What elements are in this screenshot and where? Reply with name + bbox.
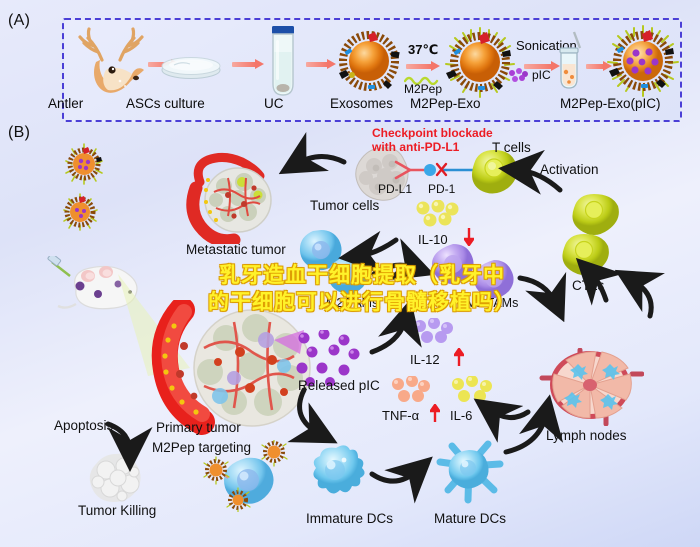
panel-a-letter: (A) [8, 12, 30, 30]
label-mature-dcs: Mature DCs [434, 511, 506, 526]
il-10-cytokine-dots [414, 200, 462, 230]
metastatic-tumor-illustration [182, 152, 282, 244]
step-label-uc: UC [264, 96, 284, 111]
lymph-node-illustration [536, 348, 644, 426]
label-tumor-killing: Tumor Killing [78, 503, 156, 518]
sonication-tube-icon [552, 30, 586, 96]
t-cell-icon-1 [464, 148, 520, 196]
label-t-cells: T cells [492, 140, 531, 155]
label-tumor-cells: Tumor cells [310, 198, 379, 213]
deer-head-icon [76, 26, 146, 100]
m2pep-wave-icon [404, 72, 444, 82]
apoptotic-cell-icon [88, 452, 146, 504]
process-arrow-4 [406, 62, 440, 71]
label-il-6: IL-6 [450, 408, 472, 423]
m1-tam-icon-1 [430, 242, 476, 286]
m1-tam-icon-2 [472, 258, 516, 300]
pic-dots-icon [508, 68, 530, 82]
immature-dc-icon [304, 442, 368, 500]
label-m1-tams: M1 TAMs [466, 296, 518, 310]
tnf-alpha-cytokine-dots [390, 376, 432, 404]
reaction-label-pic: pIC [532, 68, 551, 82]
panel-b-letter: (B) [8, 124, 30, 142]
centrifuge-tube-icon [268, 26, 298, 98]
m2-tam-icon-2 [326, 254, 370, 296]
label-lymph-nodes: Lymph nodes [546, 428, 627, 443]
petri-dish-icon [160, 54, 222, 80]
step-label-m2pep-exo-pic: M2Pep-Exo(pIC) [560, 96, 661, 111]
label-tnf-alpha: TNF-α [382, 408, 419, 423]
step-label-antler: Antler [48, 96, 83, 111]
label-ctls: CTLs [572, 278, 604, 293]
label-activation: Activation [540, 162, 599, 177]
m2pep-targeting-illustration [200, 440, 296, 512]
free-exosome-icon-1 [62, 142, 106, 186]
step-label-exosomes: Exosomes [330, 96, 393, 111]
exosome-icon [338, 30, 400, 92]
exosome-loaded-icon [604, 22, 682, 100]
label-primary-tumor: Primary tumor [156, 420, 241, 435]
checkpoint-line-1: Checkpoint blockade [372, 126, 493, 140]
label-pd-l1: PD-L1 [378, 182, 412, 196]
label-immature-dcs: Immature DCs [306, 511, 393, 526]
reaction-label-m2pep: M2Pep [404, 82, 442, 96]
process-arrow-3 [306, 60, 336, 69]
label-apoptosis: Apoptosis [54, 418, 113, 433]
tnf-alpha-up-arrow-icon [430, 404, 440, 422]
label-m2-tams: M2 TAMs [326, 296, 378, 310]
scientific-figure: (A) (B) Antler [0, 0, 700, 547]
exosome-peptide-icon [442, 24, 518, 100]
label-released-pic: Released pIC [298, 378, 380, 393]
process-arrow-2 [232, 60, 264, 69]
step-label-m2pep-exo: M2Pep-Exo [410, 96, 481, 111]
il-12-up-arrow-icon [454, 348, 464, 366]
ctl-cell-icon-2 [556, 232, 612, 278]
label-metastatic-tumor: Metastatic tumor [186, 242, 286, 257]
free-exosome-icon-2 [60, 192, 100, 232]
label-pd-1: PD-1 [428, 182, 455, 196]
reaction-label-temperature: 37℃ [408, 42, 438, 58]
step-label-ascs: ASCs culture [126, 96, 205, 111]
label-il-12: IL-12 [410, 352, 440, 367]
il-12-cytokine-dots [412, 318, 456, 344]
il-6-up-arrow-icon [484, 404, 494, 422]
mature-dc-icon [432, 440, 506, 506]
il-6-cytokine-dots [450, 376, 496, 404]
